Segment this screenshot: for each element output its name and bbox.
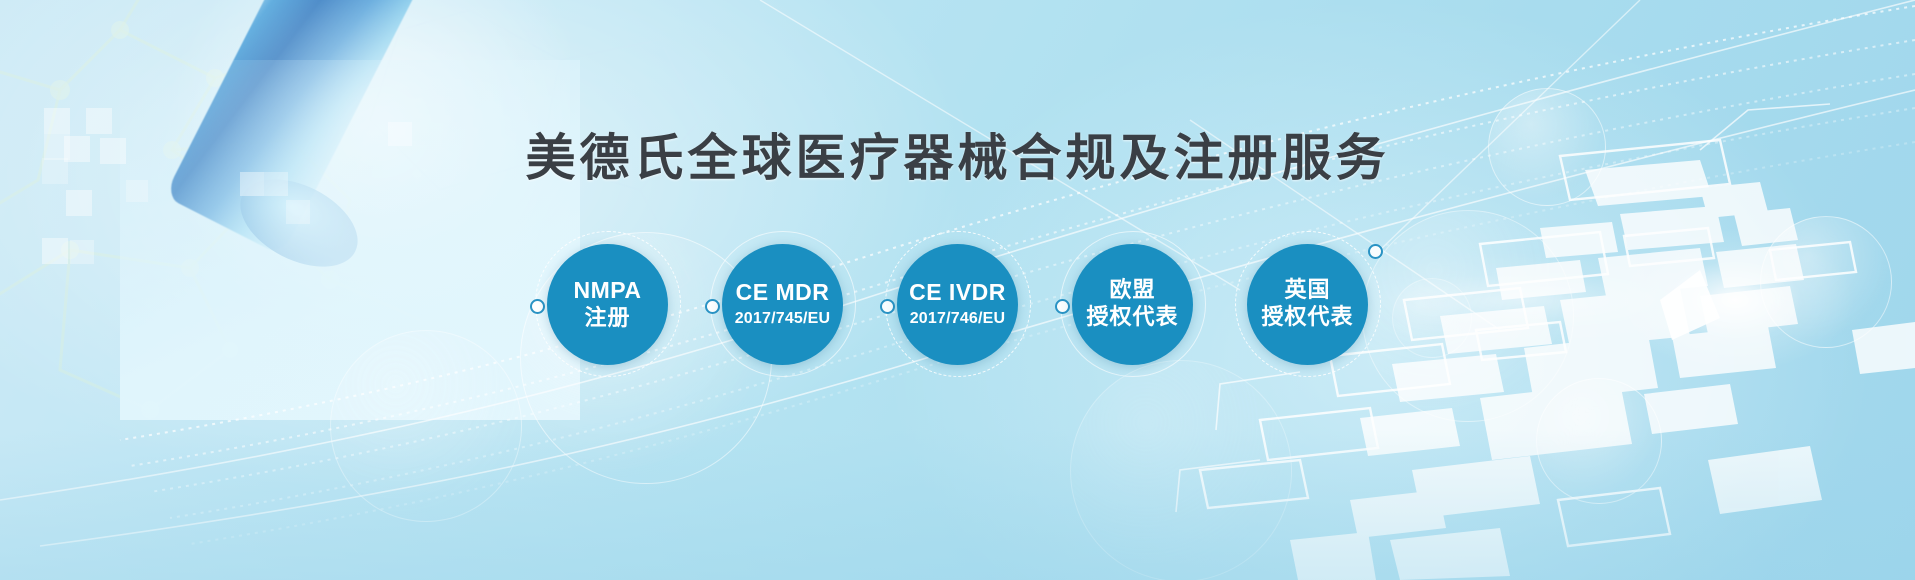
ring-dot-icon: [880, 299, 895, 314]
badge-nmpa[interactable]: NMPA 注册: [520, 224, 695, 384]
badge-line2: 2017/746/EU: [910, 309, 1006, 328]
badge-circle[interactable]: CE MDR 2017/745/EU: [722, 244, 843, 365]
badge-line2: 2017/745/EU: [735, 309, 831, 328]
ring-dot-icon: [1055, 299, 1070, 314]
bottom-fade-decoration: [0, 430, 1915, 580]
ring-dot-icon: [705, 299, 720, 314]
badge-circle[interactable]: 欧盟 授权代表: [1072, 244, 1193, 365]
badge-row: NMPA 注册 CE MDR 2017/745/EU CE IVDR 2017/…: [0, 224, 1915, 384]
badge-eu-authorized-rep[interactable]: 欧盟 授权代表: [1045, 224, 1220, 384]
page-title: 美德氏全球医疗器械合规及注册服务: [0, 118, 1915, 190]
square-decoration: [286, 200, 310, 224]
badge-circle[interactable]: 英国 授权代表: [1247, 244, 1368, 365]
badge-circle[interactable]: CE IVDR 2017/746/EU: [897, 244, 1018, 365]
badge-uk-authorized-rep[interactable]: 英国 授权代表: [1220, 224, 1395, 384]
badge-ce-ivdr[interactable]: CE IVDR 2017/746/EU: [870, 224, 1045, 384]
badge-circle[interactable]: NMPA 注册: [547, 244, 668, 365]
square-decoration: [66, 190, 92, 216]
badge-line2: 注册: [584, 305, 630, 331]
badge-line1: CE IVDR: [909, 279, 1006, 306]
badge-line2: 授权代表: [1086, 304, 1178, 330]
hero-banner: 美德氏全球医疗器械合规及注册服务 NMPA 注册 CE MDR 2017/745…: [0, 0, 1915, 580]
badge-line1: NMPA: [573, 277, 641, 304]
ring-dot-icon: [530, 299, 545, 314]
badge-line1: CE MDR: [736, 279, 830, 306]
ring-dot-icon: [1368, 244, 1383, 259]
badge-line1: 英国: [1284, 277, 1330, 303]
badge-line1: 欧盟: [1109, 277, 1155, 303]
badge-ce-mdr[interactable]: CE MDR 2017/745/EU: [695, 224, 870, 384]
badge-line2: 授权代表: [1261, 304, 1353, 330]
